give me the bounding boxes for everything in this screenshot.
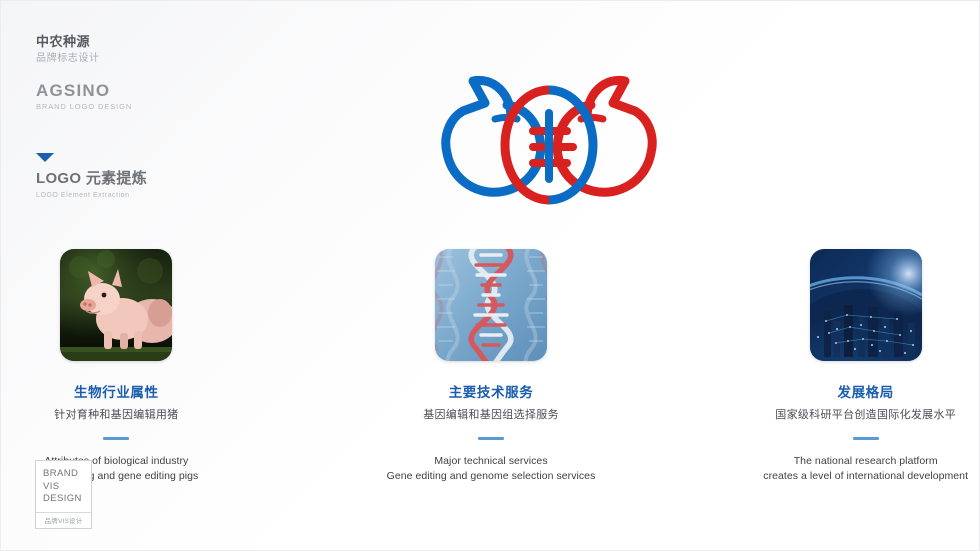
card-divider [478, 437, 504, 440]
brand-name-en-sub: BRAND LOGO DESIGN [36, 101, 132, 113]
feature-card: 生物行业属性 针对育种和基因编辑用猪 Attributes of biologi… [1, 249, 232, 484]
card-divider [853, 437, 879, 440]
brand-name-cn: 中农种源 [36, 34, 100, 50]
card-desc-cn: 基因编辑和基因组选择服务 [423, 408, 559, 423]
brand-vis-design-mark: BRAND VIS DESIGN 品牌VIS设计 [35, 460, 92, 529]
card-en-line: Major technical services [387, 454, 596, 469]
slide-canvas: 中农种源 品牌标志设计 AGSINO BRAND LOGO DESIGN LOG… [0, 0, 980, 551]
agsino-pig-dna-logo [433, 55, 665, 215]
card-divider [103, 437, 129, 440]
feature-card-row: 生物行业属性 针对育种和基因编辑用猪 Attributes of biologi… [1, 249, 980, 484]
piglet-photo[interactable] [60, 249, 172, 361]
earth-city-lights-photo[interactable] [810, 249, 922, 361]
section-title-en: LOGO Element Extraction [36, 190, 147, 201]
section-heading-block: LOGO 元素提炼 LOGO Element Extraction [36, 153, 147, 201]
feature-card: 主要技术服务 基因编辑和基因组选择服务 Major technical serv… [376, 249, 607, 484]
card-en-block: The national research platform creates a… [763, 454, 968, 484]
card-desc-cn: 针对育种和基因编辑用猪 [54, 408, 178, 423]
brand-title-block: 中农种源 品牌标志设计 [36, 34, 100, 66]
feature-card: 发展格局 国家级科研平台创造国际化发展水平 The national resea… [750, 249, 980, 484]
brand-en-block: AGSINO BRAND LOGO DESIGN [36, 81, 132, 113]
vis-mark-line: BRAND [36, 468, 91, 481]
section-title-cn: LOGO 元素提炼 [36, 170, 147, 188]
vis-mark-caption: 品牌VIS设计 [36, 512, 91, 528]
vis-mark-line: VIS [36, 481, 91, 494]
triangle-down-icon [36, 153, 54, 162]
card-en-line: Gene editing and genome selection servic… [387, 469, 596, 484]
card-title-cn: 主要技术服务 [449, 384, 534, 401]
card-en-line: creates a level of international develop… [763, 469, 968, 484]
dna-helix-photo[interactable] [435, 249, 547, 361]
card-en-line: The national research platform [763, 454, 968, 469]
card-desc-cn: 国家级科研平台创造国际化发展水平 [775, 408, 956, 423]
vis-mark-line: DESIGN [36, 493, 91, 506]
card-title-cn: 发展格局 [837, 384, 893, 401]
card-en-block: Major technical services Gene editing an… [387, 454, 596, 484]
card-title-cn: 生物行业属性 [74, 384, 159, 401]
brand-name-cn-sub: 品牌标志设计 [36, 51, 100, 66]
brand-name-en: AGSINO [36, 81, 132, 100]
